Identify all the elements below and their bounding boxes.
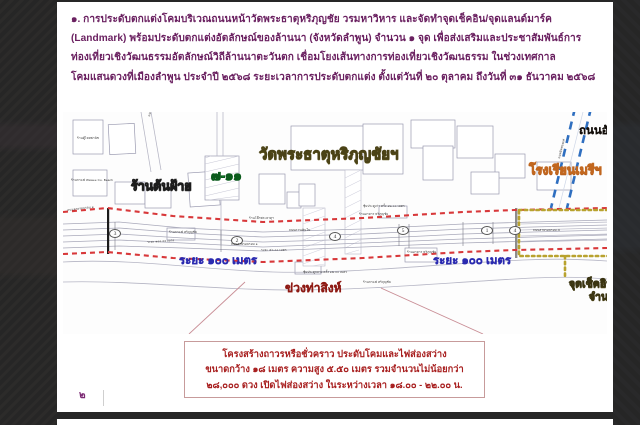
map-annotation: ร้านอาหาร หริภุญชัย — [407, 250, 436, 255]
map-label-landmark-line1: จุดเช็คอิน/Landmark — [543, 278, 607, 291]
map-annotation: ร้านตู้ไทยพานิช — [77, 136, 99, 141]
map-annotation: ถนนลายรอบรอบ ๔ — [533, 228, 560, 233]
map-label-seven-eleven: ๗-๑๑ — [211, 165, 242, 186]
page-number: ๒ — [79, 388, 86, 403]
document-viewer[interactable]: ๑. การประดับตกแต่งโคมบริเวณถนนหน้าวัดพระ… — [0, 0, 640, 425]
map-label-landmark-line2: จำนวน ๑ จุด — [543, 291, 607, 304]
map-label-atharot-road: ถนนอัฏฐารส — [579, 122, 607, 140]
structure-spec-callout: โครงสร้างถาวรหรือชั่วคราว ประดับโคมและไฟ… — [184, 341, 485, 398]
map-annotation: ถนนลายรอบรอบ ๑ — [231, 242, 258, 247]
site-map: วัดพระธาตุหริภุญชัยฯ โรงเรียนเมรีฯ ถนนอั… — [63, 112, 607, 334]
footer-divider — [103, 390, 104, 406]
left-gutter-bleed — [0, 0, 57, 425]
next-page-edge — [57, 419, 613, 425]
map-marker: 4 — [509, 226, 521, 235]
map-annotation: ถนนการเดินใน — [289, 228, 310, 233]
map-marker: 5 — [397, 226, 409, 235]
map-annotation: ซุ้มประตูเก่า ครั้ง ๑๒.๐๐ เมตร — [363, 204, 405, 209]
map-annotation: ร้านกาแฟ หริภุญชัย — [169, 230, 197, 235]
map-annotation: ร้านโจ๊กพระธาตุฯ — [249, 216, 274, 221]
khuang-lane — [303, 208, 325, 266]
map-annotation: ร้านกาแฟ หริภุญชัย — [363, 280, 391, 285]
map-annotation: ซุ้มประตูกลาง ครั้ง ๑๒.๐๐ เมตร — [303, 270, 347, 275]
map-label-landmark: จุดเช็คอิน/Landmark จำนวน ๑ จุด — [543, 278, 607, 304]
map-label-shop: ร้านต้นฝ้าย — [131, 176, 192, 196]
map-annotation: ร้านกาแฟ Wawee Co. Beach — [71, 178, 113, 183]
map-marker: 3 — [109, 229, 121, 238]
paragraph-block: ๑. การประดับตกแต่งโคมบริเวณถนนหน้าวัดพระ… — [71, 10, 605, 87]
map-marker: 1 — [481, 226, 493, 235]
map-label-distance-left: ระยะ ๑๐๐ เมตร — [179, 252, 257, 270]
right-gutter-bleed — [613, 0, 640, 425]
callout-line: ๒๘,๐๐๐ ดวง เปิดไฟส่องสว่าง ในระหว่างเวลา… — [185, 378, 484, 393]
document-page: ๑. การประดับตกแต่งโคมบริเวณถนนหน้าวัดพระ… — [57, 2, 613, 412]
map-label-temple: วัดพระธาตุหริภุญชัยฯ — [259, 142, 399, 166]
paragraph-line: โคมแสนดวงที่เมืองลำพูน ประจำปี ๒๕๖๘ ระยะ… — [71, 68, 605, 87]
map-annotation: ระยะ ๕๐.๐๐ เมตร — [261, 248, 287, 253]
map-label-khuang: ข่วงท่าสิงห์ — [285, 279, 342, 298]
paragraph-line: ท่องเที่ยวเชิงวัฒนธรรมอัตลักษณ์วิถีล้านน… — [71, 48, 605, 67]
map-label-distance-right: ระยะ ๑๐๐ เมตร — [433, 252, 511, 270]
paragraph-line: ๑. การประดับตกแต่งโคมบริเวณถนนหน้าวัดพระ… — [71, 10, 605, 29]
callout-line: โครงสร้างถาวรหรือชั่วคราว ประดับโคมและไฟ… — [185, 347, 484, 362]
callout-line: ขนาดกว้าง ๑๘ เมตร ความสูง ๕.๕๐ เมตร รวมจ… — [185, 362, 484, 377]
map-annotation: ร้านอาหาร หริภุญชัย — [359, 212, 388, 217]
paragraph-line: (Landmark) พร้อมประดับตกแต่งอัตลักษณ์ของ… — [71, 29, 605, 48]
map-marker: 4 — [329, 232, 341, 241]
map-label-school: โรงเรียนเมรีฯ — [529, 160, 602, 180]
